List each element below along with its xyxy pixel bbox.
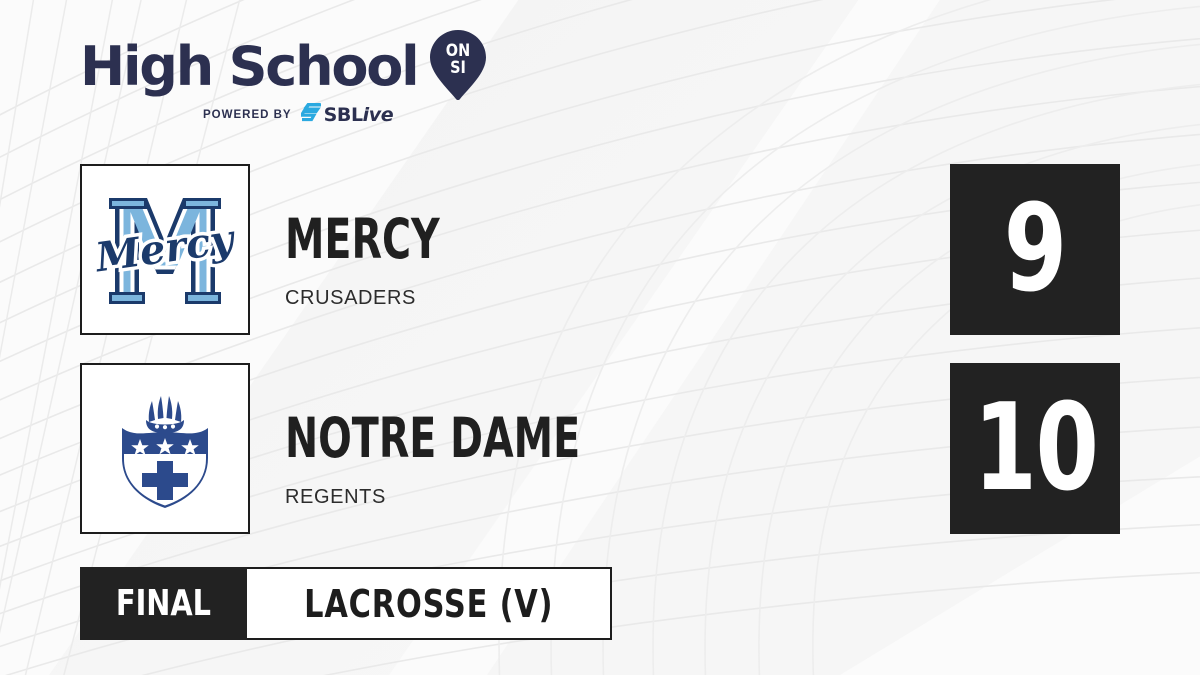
status-badge: FINAL: [80, 567, 247, 640]
svg-text:SI: SI: [451, 57, 467, 77]
sblive-bold: SBL: [324, 104, 363, 126]
team-info: NOTRE DAME REGENTS: [285, 363, 695, 534]
team-row: Mercy Mercy MERCY CRUSADERS 9: [0, 164, 1200, 336]
team-score-box: 10: [950, 363, 1120, 534]
status-badge-label: FINAL: [116, 586, 211, 622]
notre-dame-crown-shield-logo-icon: [100, 384, 230, 514]
team-score: 9: [1004, 190, 1066, 310]
sport-label: LACROSSE (V): [304, 585, 553, 623]
sblive-s-mark-icon: [301, 103, 322, 127]
brand-wordmark: High School: [80, 36, 417, 98]
sblive-italic: ive: [363, 104, 394, 126]
team-mascot: CRUSADERS: [285, 287, 500, 310]
team-score: 10: [973, 389, 1097, 509]
sblive-wordmark: SBLive: [324, 106, 394, 125]
scoreboard-graphic: High School ON SI POWERED BY SBLive: [0, 0, 1200, 675]
sblive-logo: SBLive: [301, 103, 394, 127]
onsi-pin-icon: ON SI: [429, 29, 487, 101]
team-score-box: 9: [950, 164, 1120, 335]
team-logo-box: Mercy Mercy: [80, 164, 250, 335]
sport-label-box: LACROSSE (V): [247, 567, 612, 640]
powered-by-label: POWERED BY: [203, 109, 292, 121]
brand-title-row: High School ON SI: [80, 33, 510, 101]
team-row: NOTRE DAME REGENTS 10: [0, 363, 1200, 535]
team-logo-box: [80, 363, 250, 534]
team-name: NOTRE DAME: [285, 411, 580, 466]
team-info: MERCY CRUSADERS: [285, 164, 500, 335]
team-mascot: REGENTS: [285, 486, 695, 509]
brand-header: High School ON SI POWERED BY SBLive: [80, 33, 510, 133]
powered-by-row: POWERED BY SBLive: [203, 103, 510, 127]
team-name: MERCY: [285, 212, 440, 267]
game-status-bar: FINAL LACROSSE (V): [80, 567, 612, 640]
mercy-block-m-logo-icon: Mercy Mercy: [95, 180, 235, 320]
